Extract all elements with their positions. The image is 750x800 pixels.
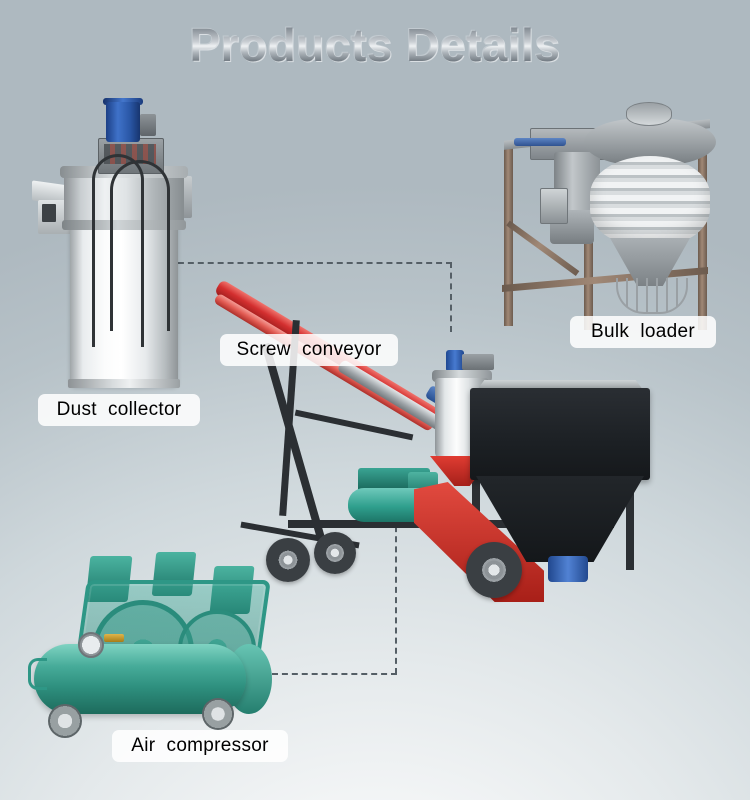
- bulk-loader-control-box: [540, 188, 568, 224]
- dust-collector-hose-b: [110, 160, 170, 331]
- products-details-page: Products Details: [0, 0, 750, 800]
- air-compressor-pressure-gauge: [78, 632, 104, 658]
- bulk-loader-inlet-spout: [626, 102, 672, 126]
- bulk-loader-sieve-body: [590, 156, 710, 248]
- label-dust-collector[interactable]: Dust collector: [38, 394, 200, 426]
- label-dust-collector-text: Dust collector: [57, 399, 182, 421]
- main-frame-brace-a: [295, 410, 414, 441]
- dust-collector-inlet-port: [42, 204, 56, 222]
- label-air-compressor[interactable]: Air compressor: [112, 730, 288, 762]
- wheel-front-right: [314, 532, 356, 574]
- dust-collector-motor-terminal: [140, 114, 156, 136]
- label-bulk-loader-text: Bulk loader: [591, 321, 695, 343]
- bulk-loader-leg-right: [698, 142, 707, 330]
- label-air-compressor-text: Air compressor: [131, 735, 269, 757]
- label-screw-conveyor-text: Screw conveyor: [237, 339, 382, 361]
- connector-dust-to-main: [168, 262, 452, 264]
- dust-collector-motor: [106, 102, 140, 142]
- connector-main-to-air: [272, 673, 397, 675]
- bulk-loader-drive-shaft: [514, 138, 566, 146]
- hopper-body: [470, 388, 650, 480]
- dust-collector-base-ring: [68, 379, 180, 388]
- label-bulk-loader[interactable]: Bulk loader: [570, 316, 716, 348]
- wheel-rear: [466, 542, 522, 598]
- cyclone-filter-box: [462, 354, 494, 370]
- air-compressor-wheel-right: [202, 698, 234, 730]
- air-compressor-valve: [104, 634, 124, 642]
- product-image-dust-collector: [18, 96, 208, 396]
- label-screw-conveyor[interactable]: Screw conveyor: [220, 334, 398, 366]
- page-title: Products Details: [0, 18, 750, 72]
- product-image-air-compressor: [26, 552, 282, 752]
- hopper-discharge-motor: [548, 556, 588, 582]
- air-compressor-handle: [28, 658, 47, 690]
- air-compressor-wheel-left: [48, 704, 82, 738]
